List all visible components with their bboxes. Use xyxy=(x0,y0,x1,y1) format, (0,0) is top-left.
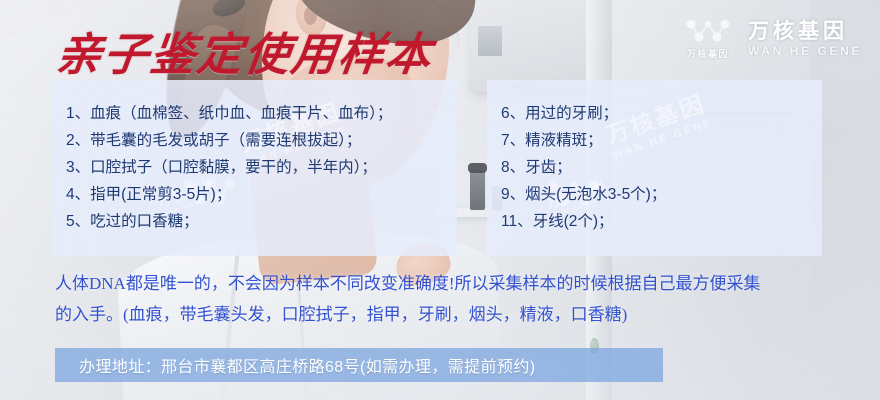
note-line-1: 人体DNA都是唯一的，不会因为样本不同改变准确度!所以采集样本的时候根据自己最方… xyxy=(55,268,845,299)
list-item: 8、牙齿； xyxy=(501,154,822,181)
logo-name-en: WAN HE GENE xyxy=(748,45,862,58)
note-paragraph: 人体DNA都是唯一的，不会因为样本不同改变准确度!所以采集样本的时候根据自己最方… xyxy=(55,268,845,330)
logo-wordmark: 万核基因 WAN HE GENE xyxy=(748,20,862,58)
logo-mark: 万核基因 xyxy=(684,18,732,60)
sample-panels: 万核基因 WAN HE GENE 万核基因 WAN HE GENE xyxy=(52,80,822,256)
list-item: 5、吃过的口香糖； xyxy=(66,208,457,235)
list-item: 6、用过的牙刷； xyxy=(501,100,822,127)
note-line-2: 的入手。(血痕，带毛囊头发，口腔拭子，指甲，牙刷，烟头，精液，口香糖) xyxy=(55,299,845,330)
molecule-nodes-icon xyxy=(684,18,732,44)
address-bar: 办理地址：邢台市襄都区高庄桥路68号(如需办理，需提前预约) xyxy=(55,348,663,382)
sample-list-right: 6、用过的牙刷； 7、精液精斑； 8、牙齿； 9、烟头(无泡水3-5个)； 11… xyxy=(487,80,822,235)
list-item: 7、精液精斑； xyxy=(501,127,822,154)
poster-canvas: 亲子鉴定使用样本 xyxy=(0,0,880,400)
sample-panel-right: 万核基因 WAN HE GENE 万核基因 WAN HE GENE xyxy=(487,80,822,256)
sample-list-left: 1、血痕（血棉签、纸巾血、血痕干片、血布）； 2、带毛囊的毛发或胡子（需要连根拔… xyxy=(52,80,457,235)
list-item: 3、口腔拭子（口腔黏膜，要干的，半年内）； xyxy=(66,154,457,181)
brand-logo: 万核基因 万核基因 WAN HE GENE xyxy=(684,18,862,60)
panel-divider-gap xyxy=(457,80,487,256)
sample-panel-left: 万核基因 WAN HE GENE 万核基因 WAN HE GENE xyxy=(52,80,457,256)
logo-mark-caption: 万核基因 xyxy=(687,47,729,60)
list-item: 11、牙线(2个)； xyxy=(501,208,822,235)
list-item: 9、烟头(无泡水3-5个)； xyxy=(501,181,822,208)
list-item: 4、指甲(正常剪3-5片)； xyxy=(66,181,457,208)
logo-name-cn: 万核基因 xyxy=(748,20,848,43)
address-text: 办理地址：邢台市襄都区高庄桥路68号(如需办理，需提前预约) xyxy=(55,353,535,377)
list-item: 2、带毛囊的毛发或胡子（需要连根拔起）； xyxy=(66,127,457,154)
list-item: 1、血痕（血棉签、纸巾血、血痕干片、血布）； xyxy=(66,100,457,127)
poster-title: 亲子鉴定使用样本 xyxy=(53,18,437,83)
